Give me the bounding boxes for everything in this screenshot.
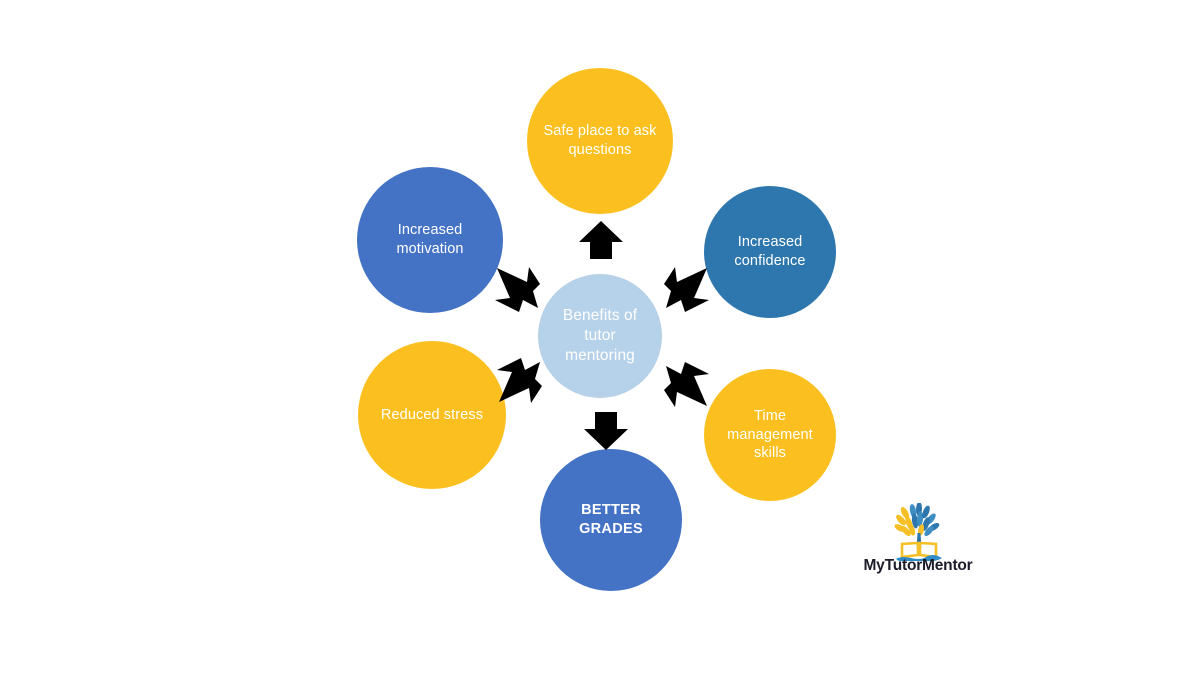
logo-wordmark: MyTutorMentor: [852, 557, 984, 575]
arrow-up-icon: [578, 220, 624, 260]
node-label: BETTER GRADES: [540, 501, 682, 538]
arrow-down-icon: [583, 411, 629, 451]
node-increased-motivation[interactable]: Increased motivation: [357, 167, 503, 313]
arrow-up-right-icon: [663, 265, 711, 313]
hub-benefits-of-tutor-mentoring[interactable]: Benefits of tutor mentoring: [538, 274, 662, 398]
diagram-canvas: Safe place to ask questions Increased co…: [0, 0, 1200, 675]
arrow-up-left-icon: [493, 265, 541, 313]
node-label: Increased confidence: [704, 233, 836, 270]
node-label: Increased motivation: [357, 221, 503, 258]
node-time-management-skills[interactable]: Time management skills: [704, 369, 836, 501]
mytutormentor-logo[interactable]: MyTutorMentor: [852, 503, 984, 593]
node-increased-confidence[interactable]: Increased confidence: [704, 186, 836, 318]
arrow-down-left-icon: [495, 357, 543, 405]
tree-pen-book-icon: [890, 503, 948, 561]
arrow-down-right-icon: [663, 361, 711, 409]
node-label: Safe place to ask questions: [527, 122, 673, 159]
node-label: Reduced stress: [371, 406, 493, 425]
node-reduced-stress[interactable]: Reduced stress: [358, 341, 506, 489]
node-better-grades[interactable]: BETTER GRADES: [540, 449, 682, 591]
node-safe-place[interactable]: Safe place to ask questions: [527, 68, 673, 214]
hub-label: Benefits of tutor mentoring: [538, 306, 662, 365]
node-label: Time management skills: [704, 407, 836, 463]
